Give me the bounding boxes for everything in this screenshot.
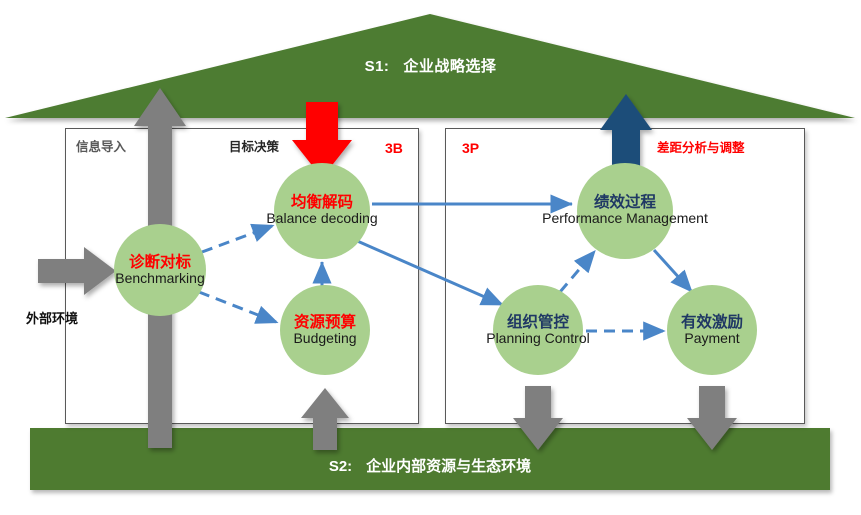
- internal-resources-label: S2:企业内部资源与生态环境: [30, 455, 830, 476]
- node-benchmarking[interactable]: [114, 224, 206, 316]
- roof-label-text: 企业战略选择: [403, 58, 496, 75]
- diagram-canvas: S1:企业战略选择 S2:企业内部资源与生态环境: [0, 0, 861, 515]
- heading-info-input: 信息导入: [76, 136, 126, 155]
- heading-gap-analysis: 差距分析与调整: [657, 137, 745, 156]
- node-budgeting[interactable]: [280, 285, 370, 375]
- node-balance-decoding[interactable]: [274, 163, 370, 259]
- node-planning-control[interactable]: [493, 285, 583, 375]
- panel-tag-3b: 3B: [385, 140, 403, 156]
- roof-label-code: S1:: [365, 58, 390, 75]
- panel-tag-3p: 3P: [462, 140, 479, 156]
- external-environment-label: 外部环境: [26, 308, 78, 327]
- base-label-code: S2:: [329, 458, 352, 475]
- node-performance-management[interactable]: [577, 163, 673, 259]
- node-payment[interactable]: [667, 285, 757, 375]
- strategy-roof-label: S1:企业战略选择: [0, 55, 861, 76]
- base-label-text: 企业内部资源与生态环境: [366, 458, 531, 475]
- heading-goal-decision: 目标决策: [229, 136, 279, 155]
